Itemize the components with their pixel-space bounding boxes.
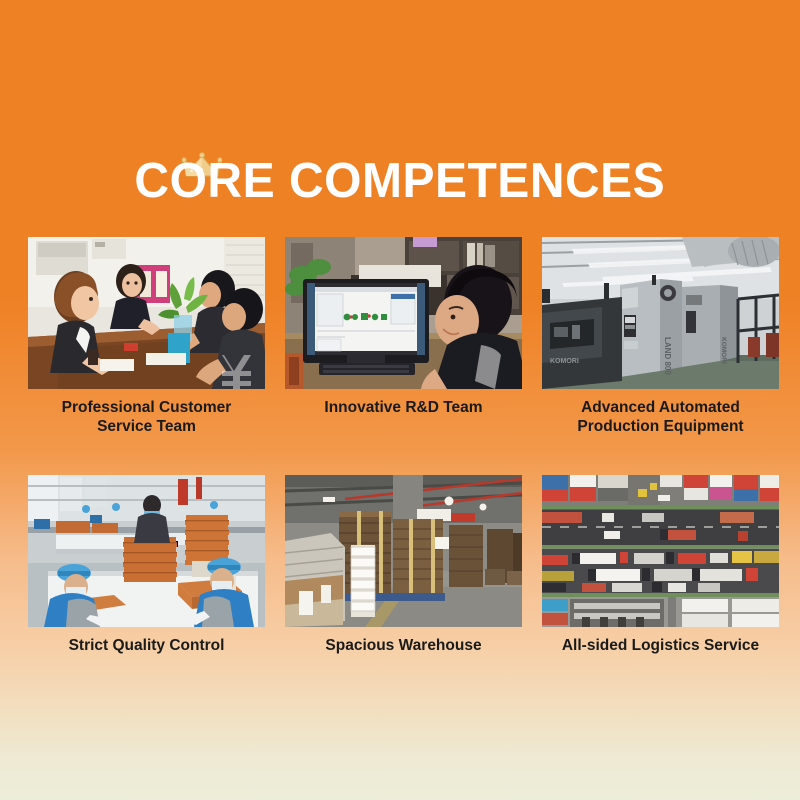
card-caption: Strict Quality Control [28, 627, 265, 655]
card-caption: Professional Customer Service Team [28, 389, 265, 436]
core-competences-banner: CORE COMPETENCES [0, 0, 800, 800]
page-header: CORE COMPETENCES [0, 152, 800, 222]
card-caption: Advanced Automated Production Equipment [542, 389, 779, 436]
card-spacious-warehouse[interactable]: Spacious Warehouse [285, 475, 522, 655]
svg-text:KOMORI: KOMORI [550, 358, 579, 365]
photo-strict-quality-control [28, 475, 265, 627]
photo-advanced-automated-production-equipment: LAND 800 KOMORI [542, 237, 779, 389]
card-all-sided-logistics-service[interactable]: All-sided Logistics Service [542, 475, 779, 655]
card-innovative-rd-team[interactable]: Innovative R&D Team [285, 237, 522, 436]
card-advanced-automated-production-equipment[interactable]: LAND 800 KOMORI [542, 237, 779, 436]
card-strict-quality-control[interactable]: Strict Quality Control [28, 475, 265, 655]
competences-grid: Professional Customer Service Team [28, 237, 776, 655]
card-caption: Innovative R&D Team [285, 389, 522, 417]
photo-innovative-rd-team [285, 237, 522, 389]
card-professional-customer-service-team[interactable]: Professional Customer Service Team [28, 237, 265, 436]
page-title: CORE COMPETENCES [135, 152, 666, 210]
photo-professional-customer-service-team [28, 237, 265, 389]
photo-all-sided-logistics-service [542, 475, 779, 627]
svg-text:LAND 800: LAND 800 [663, 337, 672, 375]
card-caption: All-sided Logistics Service [542, 627, 779, 655]
photo-spacious-warehouse [285, 475, 522, 627]
svg-text:KOMORI: KOMORI [720, 337, 727, 364]
card-caption: Spacious Warehouse [285, 627, 522, 655]
